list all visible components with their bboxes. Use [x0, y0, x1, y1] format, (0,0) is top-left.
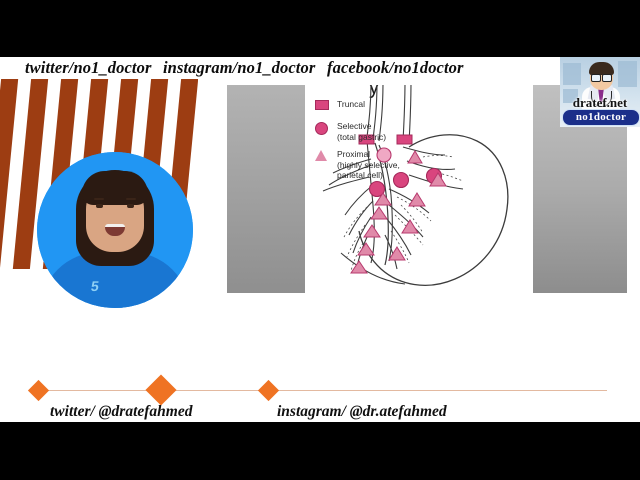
- channel-watermark: dratef.net no1doctor: [560, 57, 640, 127]
- legend-item-selective: Selective (total gastric): [313, 121, 421, 142]
- portrait-eyebrow: [94, 198, 104, 200]
- video-frame: twitter/no1_doctor instagram/no1_doctor …: [0, 0, 640, 480]
- figure-gray-panel-left: [227, 85, 305, 293]
- footer-social-handles: twitter/ @dratefahmed instagram/ @dr.ate…: [0, 403, 640, 422]
- twitter-footer-handle: twitter/ @dratefahmed: [50, 403, 193, 421]
- portrait-hair-top: [82, 171, 148, 205]
- presenter-portrait: 5: [37, 152, 193, 308]
- diamond-icon: [145, 374, 176, 405]
- selective-circle-icon: [315, 122, 328, 135]
- legend-label-truncal: Truncal: [337, 99, 421, 110]
- legend-item-proximal: Proximal (highly selective, parietal cel…: [313, 149, 421, 181]
- legend-item-truncal: Truncal: [313, 99, 421, 114]
- legend-label-proximal: Proximal (highly selective, parietal cel…: [337, 149, 421, 181]
- watermark-banner: no1doctor: [562, 109, 640, 126]
- portrait-eye: [96, 204, 103, 208]
- instagram-handle: instagram/no1_doctor: [163, 58, 315, 78]
- diagram-legend: Truncal Selective (total gastric) Proxim…: [313, 99, 421, 188]
- legend-label-selective: Selective (total gastric): [337, 121, 421, 142]
- portrait-eyebrow: [126, 198, 136, 200]
- slide-canvas: twitter/no1_doctor instagram/no1_doctor …: [0, 57, 640, 422]
- letterbox-top: [0, 0, 640, 57]
- proximal-triangle-icon: [315, 150, 327, 161]
- instagram-footer-handle: instagram/ @dr.atefahmed: [277, 403, 447, 421]
- glasses-icon: [602, 74, 612, 82]
- watermark-cabinet: [563, 63, 581, 85]
- glasses-icon: [591, 74, 601, 82]
- truncal-square-icon: [315, 100, 329, 110]
- decorative-divider: [25, 377, 615, 403]
- header-social-handles: twitter/no1_doctor instagram/no1_doctor …: [0, 57, 640, 83]
- letterbox-bottom: [0, 422, 640, 480]
- divider-line: [35, 390, 607, 391]
- watermark-cabinet: [618, 61, 637, 87]
- portrait-eye: [127, 204, 134, 208]
- twitter-handle: twitter/no1_doctor: [25, 58, 151, 78]
- facebook-handle: facebook/no1doctor: [327, 58, 464, 78]
- watermark-banner-text: no1doctor: [563, 110, 639, 125]
- diamond-icon: [28, 380, 49, 401]
- shirt-logo-icon: 5: [86, 278, 104, 294]
- diamond-icon: [258, 380, 279, 401]
- vagotomy-diagram: y: [305, 85, 533, 297]
